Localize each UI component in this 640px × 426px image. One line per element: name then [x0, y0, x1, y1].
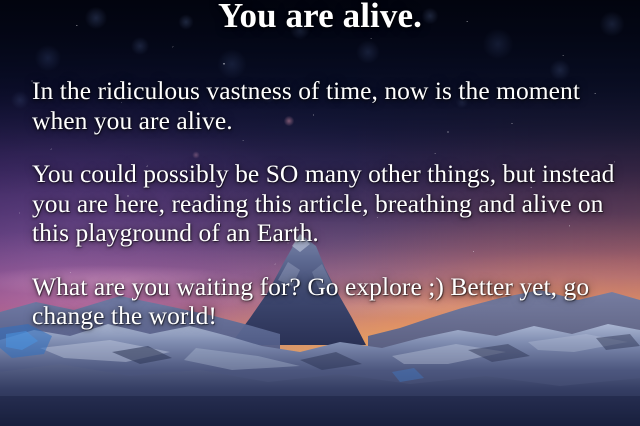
quote-poster: You are alive. In the ridiculous vastnes… [0, 0, 640, 426]
quote-body: In the ridiculous vastness of time, now … [32, 76, 624, 331]
text-overlay: You are alive. In the ridiculous vastnes… [0, 0, 640, 426]
page-title: You are alive. [0, 0, 640, 39]
paragraph-1: In the ridiculous vastness of time, now … [32, 76, 624, 135]
paragraph-2: You could possibly be SO many other thin… [32, 159, 624, 248]
paragraph-3: What are you waiting for? Go explore ;) … [32, 272, 624, 331]
